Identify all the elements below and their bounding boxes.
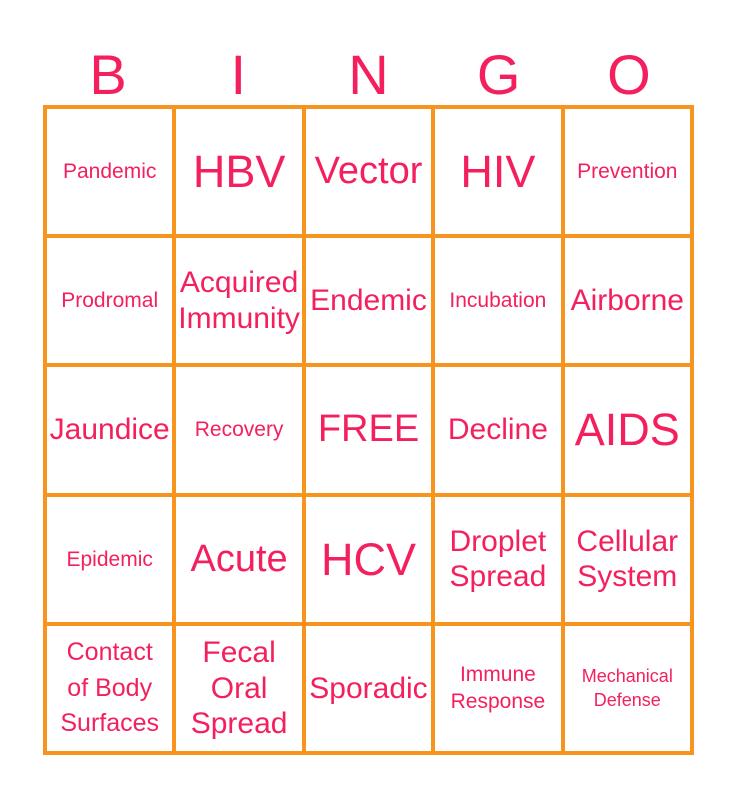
bingo-cell-free[interactable]: FREE (306, 367, 435, 496)
bingo-card: B I N G O Pandemic HBV Vector HIV Preven… (0, 0, 737, 800)
bingo-cell[interactable]: HBV (176, 109, 305, 238)
bingo-cell-label: Endemic (307, 283, 430, 318)
bingo-grid: Pandemic HBV Vector HIV Prevention Prodr… (43, 105, 694, 755)
bingo-cell[interactable]: Epidemic (47, 497, 176, 626)
bingo-cell[interactable]: Cellular System (565, 497, 694, 626)
bingo-cell-label: Droplet Spread (447, 524, 550, 595)
bingo-cell-label: HBV (190, 148, 289, 195)
bingo-cell[interactable]: Droplet Spread (435, 497, 564, 626)
bingo-cell[interactable]: Decline (435, 367, 564, 496)
bingo-cell[interactable]: Prevention (565, 109, 694, 238)
bingo-cell[interactable]: HCV (306, 497, 435, 626)
bingo-cell-label: Acute (188, 539, 291, 580)
bingo-cell-label: FREE (315, 409, 422, 450)
bingo-cell-label: Acquired Immunity (176, 265, 303, 336)
bingo-cell[interactable]: Acquired Immunity (176, 238, 305, 367)
bingo-cell-label: Prevention (574, 158, 680, 185)
bingo-cell-label: Jaundice (47, 412, 173, 447)
bingo-cell[interactable]: Immune Response (435, 626, 564, 755)
bingo-cell-label: Decline (445, 412, 551, 447)
bingo-cell-label: HIV (457, 148, 538, 195)
bingo-cell[interactable]: Incubation (435, 238, 564, 367)
bingo-cell-label: Contact of Body Surfaces (57, 635, 162, 742)
bingo-cell[interactable]: Jaundice (47, 367, 176, 496)
bingo-cell-label: Pandemic (60, 158, 159, 185)
bingo-header-row: B I N G O (43, 28, 694, 105)
bingo-cell-label: Vector (312, 151, 426, 192)
bingo-cell[interactable]: HIV (435, 109, 564, 238)
bingo-cell-label: HCV (318, 536, 419, 583)
bingo-cell[interactable]: Prodromal (47, 238, 176, 367)
bingo-header-letter-g: G (434, 28, 564, 105)
bingo-cell[interactable]: Recovery (176, 367, 305, 496)
bingo-cell[interactable]: AIDS (565, 367, 694, 496)
bingo-header-letter-i: I (173, 28, 303, 105)
bingo-cell-label: AIDS (572, 406, 683, 453)
bingo-cell[interactable]: Fecal Oral Spread (176, 626, 305, 755)
bingo-cell-label: Recovery (192, 416, 287, 443)
bingo-cell-label: Mechanical Defense (579, 664, 676, 714)
bingo-cell-label: Fecal Oral Spread (188, 635, 291, 741)
bingo-cell-label: Airborne (568, 283, 687, 318)
bingo-header-letter-n: N (303, 28, 433, 105)
bingo-cell-label: Cellular System (573, 524, 681, 595)
bingo-cell[interactable]: Contact of Body Surfaces (47, 626, 176, 755)
bingo-cell[interactable]: Endemic (306, 238, 435, 367)
bingo-cell[interactable]: Mechanical Defense (565, 626, 694, 755)
bingo-cell-label: Prodromal (58, 287, 161, 314)
bingo-cell-label: Immune Response (448, 661, 549, 716)
bingo-cell-label: Incubation (446, 287, 549, 314)
bingo-cell[interactable]: Sporadic (306, 626, 435, 755)
bingo-cell-label: Sporadic (306, 671, 430, 706)
bingo-cell-label: Epidemic (64, 546, 156, 573)
bingo-cell[interactable]: Pandemic (47, 109, 176, 238)
bingo-header-letter-o: O (564, 28, 694, 105)
bingo-cell[interactable]: Airborne (565, 238, 694, 367)
bingo-cell[interactable]: Vector (306, 109, 435, 238)
bingo-header-letter-b: B (43, 28, 173, 105)
bingo-cell[interactable]: Acute (176, 497, 305, 626)
